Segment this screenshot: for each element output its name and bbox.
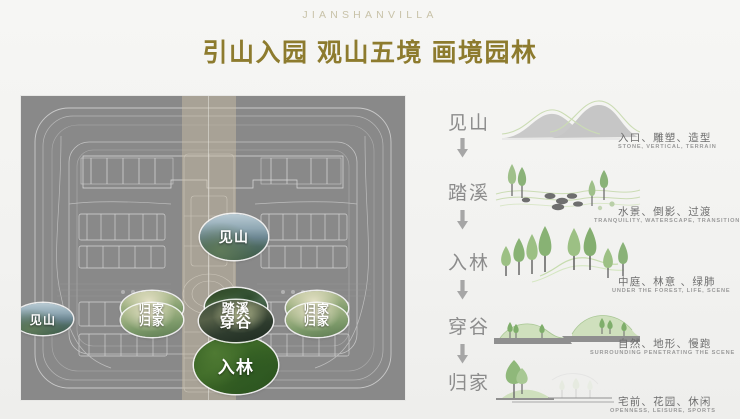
brand-wordmark: JIANSHANVILLA [0, 9, 740, 21]
page-title: 引山入园 观山五境 画境园林 [0, 33, 740, 69]
stage-caption-cn: 宅前、花园、休闲 [618, 394, 712, 409]
journey-column: 见山 入口、雕塑、造型 STONE, VERTICAL, TERRAIN 踏溪 [430, 96, 740, 406]
plan-bubble-label: 归家 [304, 312, 331, 329]
site-plan[interactable]: 见山 踏溪 归家 归家 入林 见山 归家 [21, 96, 405, 400]
stage-name: 踏溪 [448, 178, 490, 205]
arrow-down-icon [457, 344, 468, 364]
plan-bubble-label: 入林 [218, 353, 255, 378]
stage-caption-cn: 自然、地形、慢跑 [618, 336, 712, 351]
stage-name: 穿谷 [448, 312, 490, 339]
plan-bubble-label: 归家 [139, 312, 166, 329]
stage-name: 入林 [448, 248, 490, 275]
stage-caption-en: OPENNESS, LEISURE, SPORTS [610, 408, 716, 414]
stage-caption-en: SURROUNDING PENETRATING THE SCENE [590, 350, 735, 356]
plan-bubble-jianshan-left[interactable]: 见山 [21, 303, 73, 335]
stage-caption-cn: 中庭、林意 、绿肺 [618, 274, 716, 289]
arrow-down-icon [457, 138, 468, 158]
plan-bubble-rulin[interactable]: 入林 [194, 336, 278, 394]
stage-caption-cn: 入口、雕塑、造型 [618, 130, 712, 145]
plan-bubble-label: 见山 [30, 311, 57, 328]
plan-bubble-label: 穿谷 [220, 311, 253, 332]
slide-root: JIANSHANVILLA 引山入园 观山五境 画境园林 [0, 0, 740, 419]
stage-caption-cn: 水景、倒影、过渡 [618, 204, 712, 219]
plan-bubble-jianshan-top[interactable]: 见山 [200, 214, 268, 260]
stage-name: 归家 [448, 368, 490, 395]
arrow-down-icon [457, 210, 468, 230]
stage-name: 见山 [448, 108, 490, 135]
stage-caption-en: STONE, VERTICAL, TERRAIN [618, 144, 717, 150]
plan-bubble-label: 见山 [219, 227, 250, 247]
stage-caption-en: UNDER THE FOREST, LIFE, SCENE [612, 288, 731, 294]
arrow-down-icon [457, 280, 468, 300]
